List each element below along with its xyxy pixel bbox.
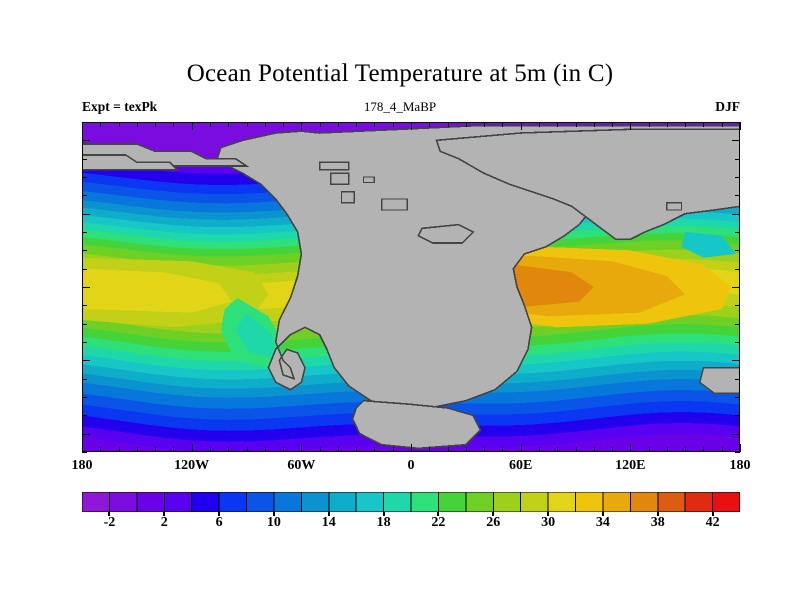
tick-mark: [411, 444, 412, 452]
tick-mark: [82, 122, 83, 130]
tick-mark: [82, 452, 87, 453]
colorbar-tick-label-22: 22: [431, 515, 445, 531]
tick-mark: [82, 232, 87, 233]
tick-mark: [82, 177, 87, 178]
tick-mark: [630, 444, 631, 452]
tick-mark: [735, 269, 740, 270]
colorbar-tick: [657, 512, 659, 516]
x-tick-label-120W: 120W: [174, 458, 209, 474]
x-tick-label-60E: 60E: [509, 458, 532, 474]
tick-mark: [228, 447, 229, 452]
tick-mark: [685, 447, 686, 452]
tick-mark: [667, 122, 668, 127]
tick-mark: [735, 159, 740, 160]
tick-mark: [82, 379, 87, 380]
tick-mark: [82, 397, 87, 398]
tick-mark: [667, 447, 668, 452]
colorbar-tick-label-42: 42: [706, 515, 720, 531]
colorbar-tick-label-10: 10: [267, 515, 281, 531]
tick-mark: [649, 122, 650, 127]
x-tick-label-0: 0: [408, 458, 415, 474]
x-tick-label-60W: 60W: [287, 458, 315, 474]
tick-mark: [393, 122, 394, 127]
colorbar-cell: [301, 492, 328, 512]
colorbar-tick-label-34: 34: [596, 515, 610, 531]
tick-mark: [82, 269, 87, 270]
tick-mark: [356, 447, 357, 452]
colorbar-cell: [576, 492, 603, 512]
tick-mark: [374, 447, 375, 452]
colorbar: [82, 492, 740, 512]
tick-mark: [210, 122, 211, 127]
x-tick-label-180: 180: [730, 458, 751, 474]
tick-mark: [265, 447, 266, 452]
colorbar-tick-label--2: -2: [104, 515, 116, 531]
colorbar-cell: [411, 492, 438, 512]
tick-mark: [448, 122, 449, 127]
colorbar-cell: [466, 492, 493, 512]
tick-mark: [649, 447, 650, 452]
tick-mark: [557, 122, 558, 127]
x-tick-label-180: 180: [72, 458, 93, 474]
colorbar-cell: [137, 492, 164, 512]
tick-mark: [82, 195, 87, 196]
tick-mark: [703, 122, 704, 127]
tick-mark: [732, 140, 740, 141]
colorbar-tick-label-38: 38: [651, 515, 665, 531]
colorbar-cell: [274, 492, 301, 512]
tick-mark: [82, 342, 87, 343]
colorbar-cell: [548, 492, 575, 512]
colorbar-tick: [383, 512, 385, 516]
tick-mark: [732, 214, 740, 215]
tick-mark: [119, 122, 120, 127]
colorbar-tick: [492, 512, 494, 516]
tick-mark: [82, 250, 87, 251]
tick-mark: [338, 447, 339, 452]
tick-mark: [82, 287, 90, 288]
tick-mark: [735, 452, 740, 453]
tick-mark: [735, 250, 740, 251]
tick-mark: [429, 122, 430, 127]
tick-mark: [393, 447, 394, 452]
colorbar-tick: [547, 512, 549, 516]
tick-mark: [521, 122, 522, 130]
tick-mark: [338, 122, 339, 127]
tick-mark: [502, 447, 503, 452]
tick-mark: [735, 415, 740, 416]
tick-mark: [155, 122, 156, 127]
tick-mark: [265, 122, 266, 127]
colorbar-cell: [438, 492, 465, 512]
tick-mark: [283, 447, 284, 452]
tick-mark: [576, 122, 577, 127]
tick-mark: [82, 140, 90, 141]
colorbar-cell: [329, 492, 356, 512]
tick-mark: [630, 122, 631, 130]
colorbar-cell: [109, 492, 136, 512]
tick-mark: [82, 324, 87, 325]
colorbar-tick-label-6: 6: [216, 515, 223, 531]
x-tick-label-120E: 120E: [615, 458, 645, 474]
colorbar-cell: [713, 492, 740, 512]
tick-mark: [82, 434, 90, 435]
tick-mark: [411, 122, 412, 130]
tick-mark: [484, 447, 485, 452]
colorbar-tick: [273, 512, 275, 516]
tick-mark: [301, 444, 302, 452]
colorbar-cell: [356, 492, 383, 512]
tick-mark: [732, 360, 740, 361]
tick-mark: [283, 122, 284, 127]
colorbar-cell: [685, 492, 712, 512]
tick-mark: [594, 122, 595, 127]
colorbar-cell: [603, 492, 630, 512]
tick-mark: [740, 122, 741, 130]
tick-mark: [82, 444, 83, 452]
tick-mark: [82, 415, 87, 416]
tick-mark: [173, 122, 174, 127]
tick-mark: [137, 122, 138, 127]
colorbar-tick: [218, 512, 220, 516]
tick-mark: [735, 379, 740, 380]
tick-mark: [502, 122, 503, 127]
tick-mark: [247, 447, 248, 452]
tick-mark: [100, 447, 101, 452]
colorbar-tick: [712, 512, 714, 516]
tick-mark: [356, 122, 357, 127]
tick-mark: [192, 444, 193, 452]
tick-mark: [320, 122, 321, 127]
tick-mark: [722, 447, 723, 452]
colorbar-cell: [630, 492, 657, 512]
tick-mark: [320, 447, 321, 452]
tick-mark: [82, 305, 87, 306]
tick-mark: [735, 177, 740, 178]
colorbar-cell: [247, 492, 274, 512]
tick-mark: [735, 305, 740, 306]
tick-mark: [594, 447, 595, 452]
tick-mark: [735, 324, 740, 325]
colorbar-tick-label-26: 26: [486, 515, 500, 531]
colorbar-cell: [521, 492, 548, 512]
tick-mark: [466, 447, 467, 452]
colorbar-tick-label-2: 2: [161, 515, 168, 531]
tick-mark: [732, 434, 740, 435]
colorbar-cell: [658, 492, 685, 512]
tick-mark: [612, 122, 613, 127]
tick-mark: [521, 444, 522, 452]
tick-mark: [740, 444, 741, 452]
tick-mark: [192, 122, 193, 130]
tick-mark: [612, 447, 613, 452]
colorbar-cell: [164, 492, 191, 512]
tick-mark: [155, 447, 156, 452]
colorbar-cell: [384, 492, 411, 512]
colorbar-tick: [602, 512, 604, 516]
tick-mark: [484, 122, 485, 127]
colorbar-tick: [163, 512, 165, 516]
tick-mark: [557, 447, 558, 452]
colorbar-tick: [437, 512, 439, 516]
colorbar-tick-label-14: 14: [322, 515, 336, 531]
tick-mark: [210, 447, 211, 452]
colorbar-cell: [219, 492, 246, 512]
tick-mark: [137, 447, 138, 452]
colorbar-tick-label-18: 18: [377, 515, 391, 531]
tick-mark: [466, 122, 467, 127]
tick-mark: [735, 397, 740, 398]
tick-mark: [722, 122, 723, 127]
tick-mark: [685, 122, 686, 127]
colorbar-cell: [82, 492, 109, 512]
tick-mark: [82, 214, 90, 215]
tick-mark: [82, 159, 87, 160]
tick-mark: [703, 447, 704, 452]
tick-mark: [228, 122, 229, 127]
colorbar-tick-label-30: 30: [541, 515, 555, 531]
colorbar-cell: [192, 492, 219, 512]
tick-mark: [429, 447, 430, 452]
tick-mark: [173, 447, 174, 452]
tick-mark: [576, 447, 577, 452]
colorbar-tick: [328, 512, 330, 516]
tick-mark: [539, 122, 540, 127]
tick-mark: [119, 447, 120, 452]
colorbar-tick: [108, 512, 110, 516]
tick-mark: [539, 447, 540, 452]
tick-mark: [82, 122, 87, 123]
tick-mark: [247, 122, 248, 127]
tick-mark: [448, 447, 449, 452]
figure-canvas: Ocean Potential Temperature at 5m (in C)…: [0, 0, 800, 600]
tick-mark: [732, 287, 740, 288]
tick-mark: [374, 122, 375, 127]
tick-mark: [735, 122, 740, 123]
tick-mark: [735, 342, 740, 343]
tick-mark: [735, 232, 740, 233]
tick-mark: [100, 122, 101, 127]
tick-mark: [735, 195, 740, 196]
colorbar-cell: [493, 492, 520, 512]
tick-mark: [301, 122, 302, 130]
tick-mark: [82, 360, 90, 361]
